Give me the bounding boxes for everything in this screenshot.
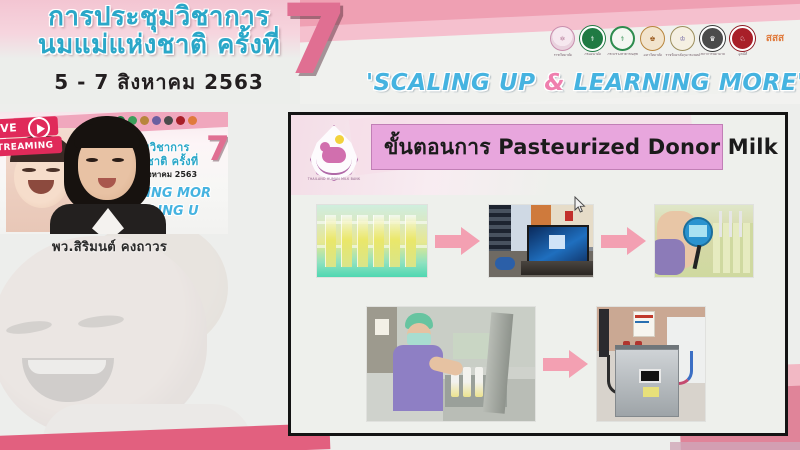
red-crest-logo-caption: มูลนิธิ [738,52,747,57]
backdrop-logo-8 [188,116,197,125]
watermark-eye-left [5,319,52,336]
nursing-council-logo: ♛สภาการพยาบาล [700,26,725,51]
presenter-bangs [74,124,140,148]
tagline-part-1: 'SCALING UP [366,70,544,96]
mouse-cursor-icon [574,196,586,214]
process-flow-row-1 [317,205,753,277]
flow-arrow-right-icon [435,226,481,256]
conference-tagline: 'SCALING UP & LEARNING MORE' [366,70,800,96]
human-milk-bank-drop-logo: THAILAND HUMAN MILK BANK [305,123,363,187]
royal-emblem-logo: ⚛ราชวิทยาลัย [550,26,575,51]
bottom-right-pink-strip [670,442,800,450]
watermark-teeth [28,360,106,374]
slide-title-text: ขั้นตอนการ Pasteurized Donor Milk [384,131,778,164]
department-health-logo: ⚕กระทรวงสาธารณสุข [610,26,635,51]
milk-drop-highlight [335,135,344,144]
photo-nurse-loading-bottles [367,307,535,421]
conference-edition-number: 7 [281,0,348,88]
backdrop-child-eye-left [22,168,36,172]
watermark-eye-right [78,314,125,330]
streaming-badge-label: STREAMING [0,136,62,157]
backdrop-logo-7 [176,116,185,125]
presenter-eye-right [112,158,124,162]
photo-pasteurizer-machine [597,307,705,421]
tagline-ampersand: & [544,70,565,96]
tagline-part-2: LEARNING MORE' [565,70,800,96]
screen-root: การประชุมวิชาการ นมแม่แห่งชาติ ครั้งที่ … [0,0,800,450]
presenter-figure [48,116,166,234]
conference-dates: 5 - 7 สิงหาคม 2563 [24,66,294,98]
presenter-eye-left [86,158,98,162]
department-health-logo-caption: กระทรวงสาธารณสุข [607,52,638,57]
conference-title-line2: นมแม่แห่งชาติ ครั้งที่ [24,32,294,59]
photo-temperature-probe [655,205,753,277]
nursing-council-logo-caption: สภาการพยาบาล [700,52,724,57]
flow-arrow-right-icon [601,226,647,256]
presenter-name-caption: พว.สิริมนต์ คงถาวร [52,236,167,257]
red-crest-logo: ♘มูลนิธิ [730,26,755,51]
sponsor-logo-row: ⚛ราชวิทยาลัย ⚕กรมอนามัย ⚕กระทรวงสาธารณสุ… [550,26,790,51]
university-crest-logo-caption: มหาวิทยาลัย [643,53,661,58]
royal-college-logo-caption: ราชวิทยาลัยกุมารแพทย์ [665,53,700,58]
royal-emblem-logo-caption: ราชวิทยาลัย [553,53,571,58]
conference-title-line1: การประชุมวิชาการ [24,4,294,31]
presentation-slide-panel[interactable]: THAILAND HUMAN MILK BANK ขั้นตอนการ Past… [288,112,788,436]
royal-college-logo: ♔ราชวิทยาลัยกุมารแพทย์ [670,26,695,51]
university-crest-logo: ♚มหาวิทยาลัย [640,26,665,51]
conference-title: การประชุมวิชาการ นมแม่แห่งชาติ ครั้งที่ [24,4,294,58]
ministry-public-health-logo-caption: กรมอนามัย [584,52,601,57]
video-backdrop-edition-number: 7 [206,132,228,166]
photo-milk-bottle-racks [317,205,427,277]
process-flow-row-2 [367,307,705,421]
slide-title-banner: ขั้นตอนการ Pasteurized Donor Milk [371,124,723,170]
presenter-video-panel[interactable]: การประชุมวิชาการ นมแม่แห่งชาติ ครั้งที่ … [0,112,228,234]
photo-laptop-record [489,205,593,277]
ministry-public-health-logo: ⚕กรมอนามัย [580,26,605,51]
milk-drop-logo-caption: THAILAND HUMAN MILK BANK [307,177,361,181]
thaihealth-sss-logo: สสส [760,26,790,51]
live-streaming-badge: LIVE STREAMING [0,118,62,158]
flow-arrow-right-icon [543,349,589,379]
